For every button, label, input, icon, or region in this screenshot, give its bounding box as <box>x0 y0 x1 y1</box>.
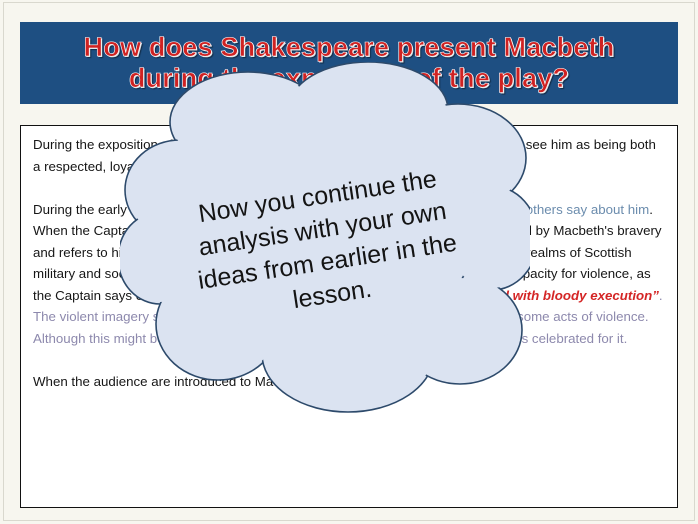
cloud-callout: Now you continue the analysis with your … <box>120 62 530 422</box>
cloud-shape-icon <box>120 62 530 422</box>
slide-canvas: How does Shakespeare present Macbeth dur… <box>0 0 698 524</box>
p2-run-2-highlight: others say about him <box>526 202 649 217</box>
